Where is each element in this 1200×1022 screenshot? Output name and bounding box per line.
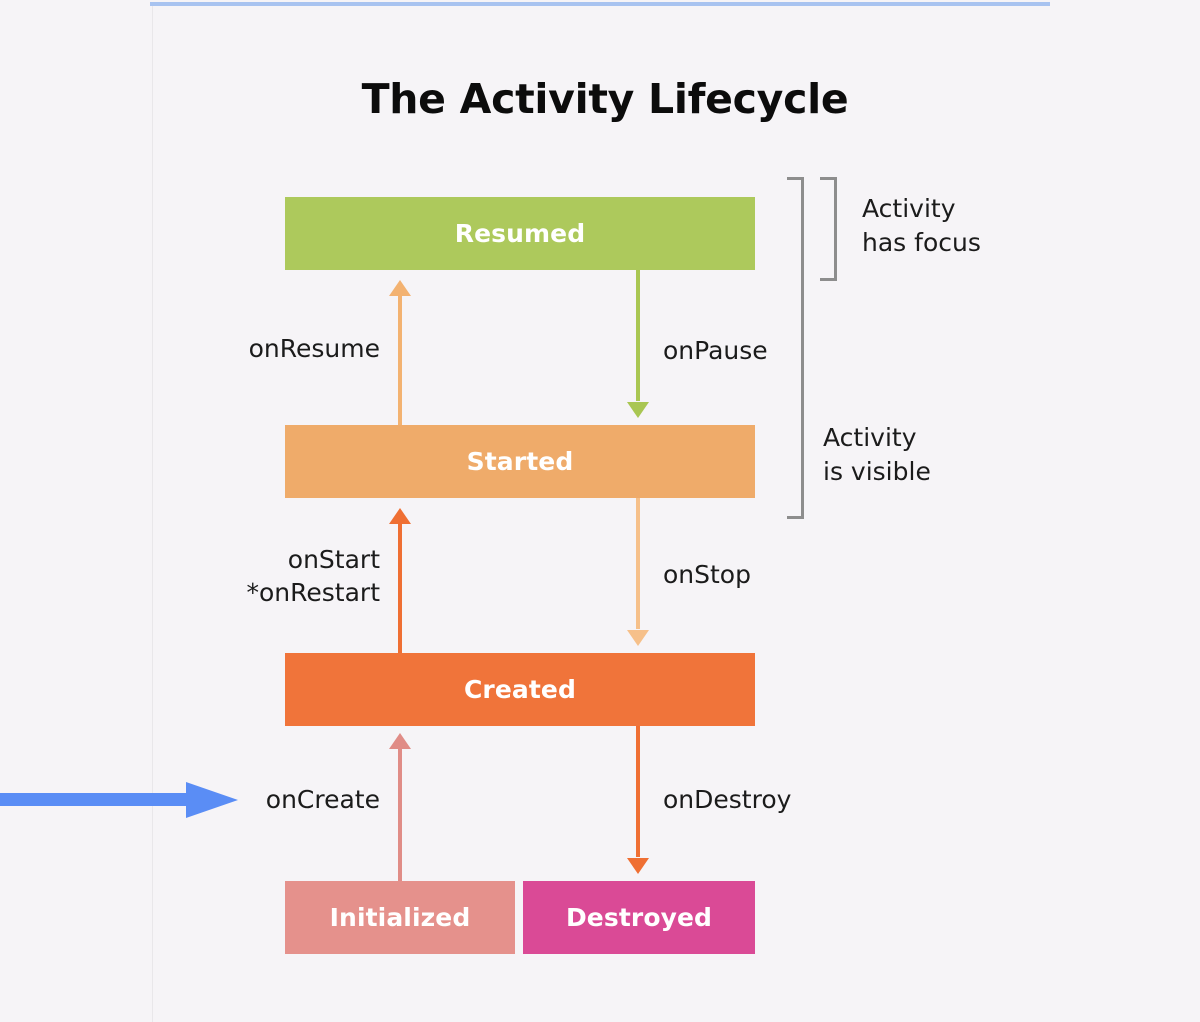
transition-label-onpause: onPause xyxy=(663,334,883,367)
annotation-activity-has-focus: Activity has focus xyxy=(862,192,1092,260)
blue-pointer-head xyxy=(186,782,238,818)
transition-arrow-onstart xyxy=(389,508,411,653)
annotation-activity-is-visible: Activity is visible xyxy=(823,421,1053,489)
state-box-destroyed: Destroyed xyxy=(523,881,755,954)
state-label-created: Created xyxy=(464,675,576,704)
state-box-initialized: Initialized xyxy=(285,881,515,954)
transition-arrow-onstop xyxy=(627,498,649,646)
page-top-rule xyxy=(150,2,1050,6)
transition-arrow-ondestroy xyxy=(627,726,649,874)
bracket-activity-is-visible xyxy=(787,177,804,519)
blue-pointer-shaft xyxy=(0,793,190,806)
bracket-activity-has-focus xyxy=(820,177,837,281)
state-box-started: Started xyxy=(285,425,755,498)
diagram-canvas: The Activity Lifecycle Resumed Started C… xyxy=(0,0,1200,1022)
transition-label-onstop: onStop xyxy=(663,558,883,591)
state-label-destroyed: Destroyed xyxy=(566,903,712,932)
transition-label-ondestroy: onDestroy xyxy=(663,783,893,816)
state-label-started: Started xyxy=(467,447,574,476)
transition-label-onstart: onStart *onRestart xyxy=(170,543,380,609)
state-box-created: Created xyxy=(285,653,755,726)
state-box-resumed: Resumed xyxy=(285,197,755,270)
state-label-resumed: Resumed xyxy=(455,219,586,248)
transition-arrow-onpause xyxy=(627,270,649,418)
state-label-initialized: Initialized xyxy=(330,903,471,932)
transition-label-onresume: onResume xyxy=(190,332,380,365)
blue-pointer-arrow xyxy=(0,782,238,818)
page-left-guide-line xyxy=(152,6,153,1022)
page-title: The Activity Lifecycle xyxy=(205,75,1005,123)
transition-arrow-oncreate xyxy=(389,733,411,881)
transition-arrow-onresume xyxy=(389,280,411,425)
